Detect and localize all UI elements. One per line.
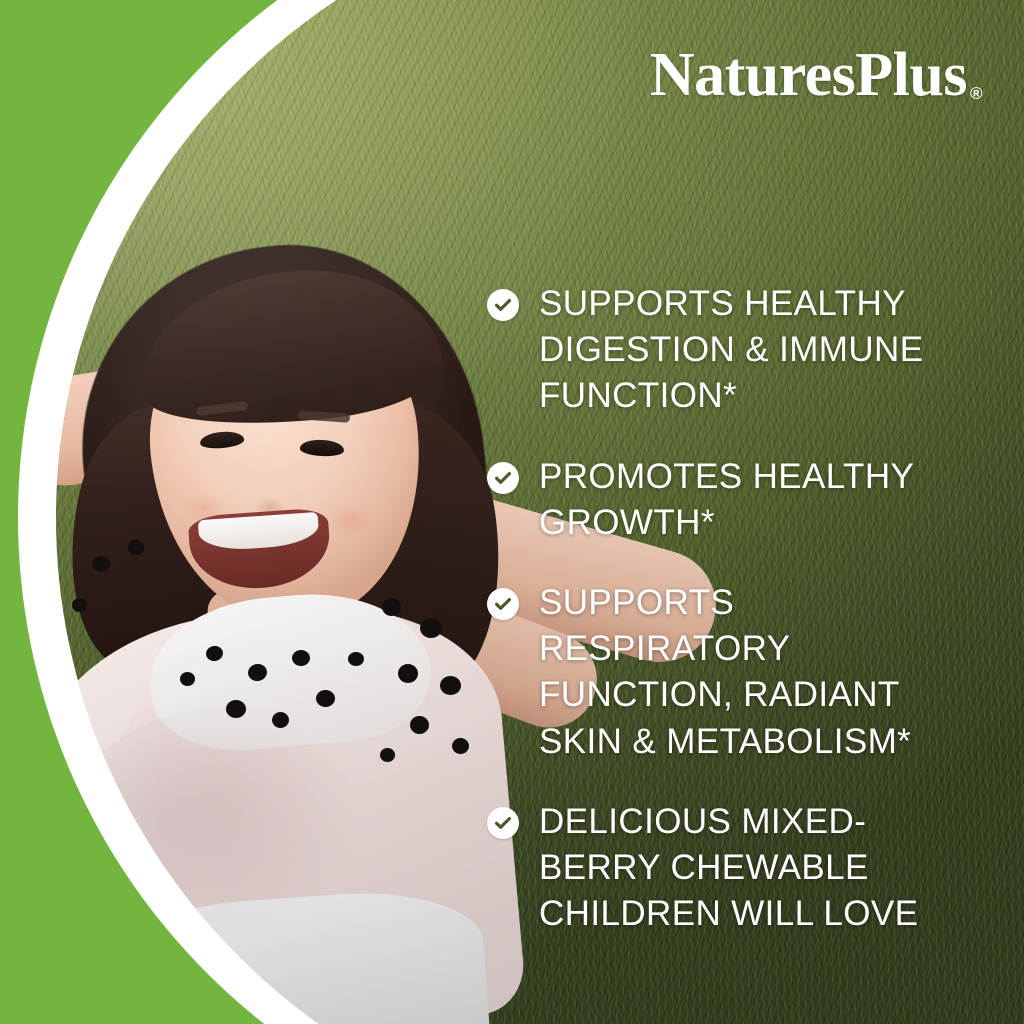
product-benefits-banner: NaturesPlus ® SUPPORTS HEALTHY DIGESTION… — [0, 0, 1024, 1024]
benefit-item: SUPPORTS HEALTHY DIGESTION & IMMUNE FUNC… — [487, 281, 987, 420]
brand-logo: NaturesPlus ® — [650, 44, 982, 106]
benefits-list: SUPPORTS HEALTHY DIGESTION & IMMUNE FUNC… — [487, 281, 987, 937]
registered-trademark-icon: ® — [970, 85, 982, 102]
benefit-item: DELICIOUS MIXED- BERRY CHEWABLE CHILDREN… — [487, 799, 987, 938]
check-circle-icon — [487, 807, 519, 839]
benefit-item: PROMOTES HEALTHY GROWTH* — [487, 454, 987, 546]
benefit-text: PROMOTES HEALTHY GROWTH* — [539, 454, 914, 546]
benefit-item: SUPPORTS RESPIRATORY FUNCTION, RADIANT S… — [487, 580, 987, 765]
check-circle-icon — [487, 289, 519, 321]
benefit-text: SUPPORTS RESPIRATORY FUNCTION, RADIANT S… — [539, 580, 987, 765]
benefit-text: SUPPORTS HEALTHY DIGESTION & IMMUNE FUNC… — [539, 281, 923, 420]
benefit-text: DELICIOUS MIXED- BERRY CHEWABLE CHILDREN… — [539, 799, 918, 938]
check-circle-icon — [487, 588, 519, 620]
check-circle-icon — [487, 462, 519, 494]
brand-logo-text: NaturesPlus — [650, 44, 967, 106]
